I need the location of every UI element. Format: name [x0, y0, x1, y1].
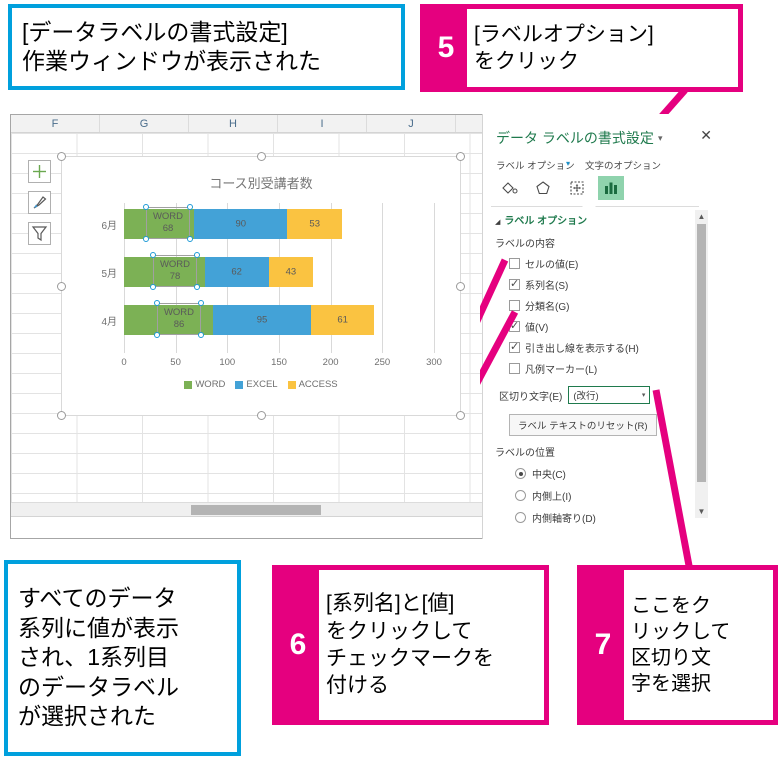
data-label-value: 53: [287, 219, 342, 230]
data-label-series-name: WORD: [153, 211, 183, 223]
reset-label-text-button[interactable]: ラベル テキストのリセット(R): [509, 414, 657, 436]
callout-line: をクリック: [474, 48, 731, 75]
scroll-up-arrow[interactable]: ▲: [695, 210, 708, 223]
data-label-series-name: WORD: [164, 307, 194, 319]
legend-item-word[interactable]: WORD: [184, 379, 225, 390]
legend-swatch: [288, 381, 296, 389]
chart-resize-handle[interactable]: [257, 411, 266, 420]
callout-line: リックして: [631, 619, 766, 645]
column-header-g[interactable]: G: [100, 115, 189, 132]
chart-resize-handle[interactable]: [456, 282, 465, 291]
column-header-j[interactable]: J: [367, 115, 456, 132]
chart-plot-area[interactable]: 6月 90 53 5月: [124, 203, 434, 353]
radio-row-inside-base[interactable]: 内側軸寄り(D): [495, 510, 695, 525]
tab-label-options[interactable]: ラベル オプション: [496, 158, 575, 172]
data-label-value: 61: [311, 315, 374, 326]
chart-title[interactable]: コース別受講者数: [62, 173, 460, 192]
format-data-labels-pane: データ ラベルの書式設定 ▾ ✕ ラベル オプション ▾ 文字のオプション ◢ラ…: [482, 114, 722, 539]
pentagon-effects-icon[interactable]: [530, 176, 556, 200]
category-label-5: 5月: [66, 265, 124, 280]
label-handle[interactable]: [154, 300, 160, 306]
section-header[interactable]: ◢ラベル オプション: [495, 212, 695, 227]
separator-label: 区切り文字(E): [499, 388, 562, 403]
data-label-value: 43: [269, 267, 313, 278]
data-label-value: 68: [163, 223, 174, 235]
callout-step5: 5 [ラベルオプション] をクリック: [420, 4, 743, 92]
checkbox-label: 値(V): [525, 319, 548, 334]
subheader-label-position: ラベルの位置: [495, 444, 695, 459]
radio-label: 内側上(I): [532, 488, 571, 503]
gridline: [434, 203, 435, 353]
separator-field-row: 区切り文字(E) (改行) ▾: [495, 386, 695, 404]
chevron-down-icon[interactable]: ▾: [642, 391, 646, 399]
callout-step6: 6 [系列名]と[値] をクリックして チェックマークを 付ける: [272, 565, 549, 725]
label-handle[interactable]: [143, 236, 149, 242]
chart-resize-handle[interactable]: [456, 152, 465, 161]
label-options-chart-icon[interactable]: [598, 176, 624, 200]
section-header-label: ラベル オプション: [504, 216, 587, 227]
chart-resize-handle[interactable]: [57, 152, 66, 161]
close-icon[interactable]: ✕: [700, 127, 712, 144]
checkbox-series-name[interactable]: [509, 279, 520, 290]
callout-line: 付ける: [326, 672, 537, 699]
chevron-down-icon[interactable]: ▾: [658, 133, 663, 144]
data-label-series-name: WORD: [160, 259, 190, 271]
legend-label: EXCEL: [246, 379, 277, 390]
checkbox-row-category-name[interactable]: 分類名(G): [495, 298, 695, 313]
bar-segment-excel[interactable]: 90: [194, 209, 287, 239]
legend-item-excel[interactable]: EXCEL: [235, 379, 277, 390]
callout-line: され、1系列目: [18, 643, 227, 672]
category-label-4: 4月: [66, 313, 124, 328]
label-handle[interactable]: [194, 252, 200, 258]
pane-title: データ ラベルの書式設定: [496, 128, 654, 148]
x-tick: 0: [121, 357, 126, 368]
callout-line: すべてのデータ: [18, 584, 227, 613]
checkbox-label: 引き出し線を表示する(H): [525, 340, 639, 355]
size-properties-icon[interactable]: [564, 176, 590, 200]
callout-step7: 7 ここをク リックして 区切り文 字を選択: [577, 565, 778, 725]
collapse-triangle-icon[interactable]: ◢: [495, 218, 500, 226]
column-header-f[interactable]: F: [11, 115, 100, 132]
radio-center[interactable]: [515, 468, 526, 479]
chart-styles-brush-icon[interactable]: [28, 191, 51, 214]
radio-row-inside-end[interactable]: 内側上(I): [495, 488, 695, 503]
label-handle[interactable]: [198, 332, 204, 338]
callout-line: が選択された: [18, 702, 227, 731]
chart-object[interactable]: コース別受講者数 6月 90: [61, 156, 461, 416]
scroll-down-arrow[interactable]: ▼: [695, 505, 708, 518]
checkbox-row-leader-lines[interactable]: 引き出し線を表示する(H): [495, 340, 695, 355]
bar-segment-access[interactable]: 61: [311, 305, 374, 335]
label-handle[interactable]: [150, 252, 156, 258]
x-tick: 50: [170, 357, 181, 368]
callout-line: [ラベルオプション]: [474, 21, 731, 48]
chart-resize-handle[interactable]: [57, 282, 66, 291]
tab-text-options[interactable]: 文字のオプション: [585, 158, 661, 172]
checkbox-label: 分類名(G): [525, 298, 569, 313]
callout-line: 区切り文: [631, 645, 766, 671]
chart-filter-funnel-icon[interactable]: [28, 222, 51, 245]
checkbox-row-legend-key[interactable]: 凡例マーカー(L): [495, 361, 695, 376]
subheader-label-contents: ラベルの内容: [495, 235, 695, 250]
fill-bucket-icon[interactable]: [496, 176, 522, 200]
legend-swatch: [184, 381, 192, 389]
radio-inside-end[interactable]: [515, 490, 526, 501]
label-handle[interactable]: [187, 236, 193, 242]
step-number: 7: [582, 570, 624, 720]
x-tick: 200: [323, 357, 339, 368]
column-header-i[interactable]: I: [278, 115, 367, 132]
bar-segment-access[interactable]: 43: [269, 257, 313, 287]
x-tick: 300: [426, 357, 442, 368]
checkbox-row-series-name[interactable]: 系列名(S): [495, 277, 695, 292]
callout-line: 字を選択: [631, 671, 766, 697]
legend-label: ACCESS: [299, 379, 338, 390]
chevron-down-icon[interactable]: ▾: [566, 159, 570, 168]
x-tick: 150: [271, 357, 287, 368]
checkbox-row-value[interactable]: 値(V): [495, 319, 695, 334]
column-header-h[interactable]: H: [189, 115, 278, 132]
data-label-value: 95: [213, 315, 311, 326]
data-label-value: 86: [174, 319, 185, 331]
chart-resize-handle[interactable]: [57, 411, 66, 420]
label-handle[interactable]: [154, 332, 160, 338]
callout-line: をクリックして: [326, 618, 537, 645]
checkbox-row-cell-value[interactable]: セルの値(E): [495, 256, 695, 271]
checkbox-legend-key[interactable]: [509, 363, 520, 374]
bar-segment-excel[interactable]: 95: [213, 305, 311, 335]
checkbox-label: 凡例マーカー(L): [525, 361, 597, 376]
selected-data-label[interactable]: WORD 78: [153, 255, 197, 287]
callout-line: [系列名]と[値]: [326, 590, 537, 617]
checkbox-label: 系列名(S): [525, 277, 568, 292]
data-label-value: 78: [170, 271, 181, 283]
label-handle[interactable]: [187, 204, 193, 210]
separator-dropdown[interactable]: (改行) ▾: [568, 386, 650, 404]
bar-segment-excel[interactable]: 62: [205, 257, 269, 287]
data-label-value: 90: [194, 219, 287, 230]
data-label-value: 62: [205, 267, 269, 278]
checkbox-label: セルの値(E): [525, 256, 578, 271]
scroll-thumb[interactable]: [191, 505, 321, 515]
pane-scrollbar[interactable]: ▲ ▼: [695, 210, 708, 518]
active-tab-carat: [582, 200, 596, 207]
x-tick: 250: [374, 357, 390, 368]
step-number: 6: [277, 570, 319, 720]
label-handle[interactable]: [143, 204, 149, 210]
legend-item-access[interactable]: ACCESS: [288, 379, 338, 390]
category-label-6: 6月: [66, 217, 124, 232]
legend-label: WORD: [195, 379, 225, 390]
legend-swatch: [235, 381, 243, 389]
label-options-section: ◢ラベル オプション ラベルの内容 セルの値(E) 系列名(S) 分類名(G) …: [495, 212, 695, 525]
pane-icon-row: [496, 176, 624, 200]
callout-line: チェックマークを: [326, 645, 537, 672]
chart-resize-handle[interactable]: [456, 411, 465, 420]
label-handle[interactable]: [198, 300, 204, 306]
checkbox-category-name[interactable]: [509, 300, 520, 311]
selected-data-label[interactable]: WORD 68: [146, 207, 190, 239]
callout-pane-shown: [データラベルの書式設定] 作業ウィンドウが表示された: [8, 4, 405, 90]
checkbox-value[interactable]: [509, 321, 520, 332]
selected-data-label[interactable]: WORD 86: [157, 303, 201, 335]
radio-label: 内側軸寄り(D): [532, 510, 596, 525]
radio-label: 中央(C): [532, 466, 566, 481]
bar-segment-access[interactable]: 53: [287, 209, 342, 239]
scroll-thumb[interactable]: [697, 224, 706, 482]
callout-line: [データラベルの書式設定]: [22, 18, 391, 47]
step-number: 5: [425, 9, 467, 87]
callout-result: すべてのデータ 系列に値が表示 され、1系列目 のデータラベル が選択された: [4, 560, 241, 756]
checkbox-leader-lines[interactable]: [509, 342, 520, 353]
radio-inside-base[interactable]: [515, 512, 526, 523]
chart-elements-plus-icon[interactable]: [28, 160, 51, 183]
callout-line: のデータラベル: [18, 673, 227, 702]
callout-line: 系列に値が表示: [18, 614, 227, 643]
label-handle[interactable]: [150, 284, 156, 290]
x-tick: 100: [219, 357, 235, 368]
chart-resize-handle[interactable]: [257, 152, 266, 161]
gridline: [382, 203, 383, 353]
separator-value: (改行): [573, 388, 598, 402]
callout-line: 作業ウィンドウが表示された: [22, 47, 391, 76]
chart-legend[interactable]: WORD EXCEL ACCESS: [62, 379, 460, 390]
screenshot-root: [データラベルの書式設定] 作業ウィンドウが表示された 5 [ラベルオプション]…: [0, 0, 783, 761]
checkbox-cell-value[interactable]: [509, 258, 520, 269]
radio-row-center[interactable]: 中央(C): [495, 466, 695, 481]
callout-line: ここをク: [631, 593, 766, 619]
label-handle[interactable]: [194, 284, 200, 290]
